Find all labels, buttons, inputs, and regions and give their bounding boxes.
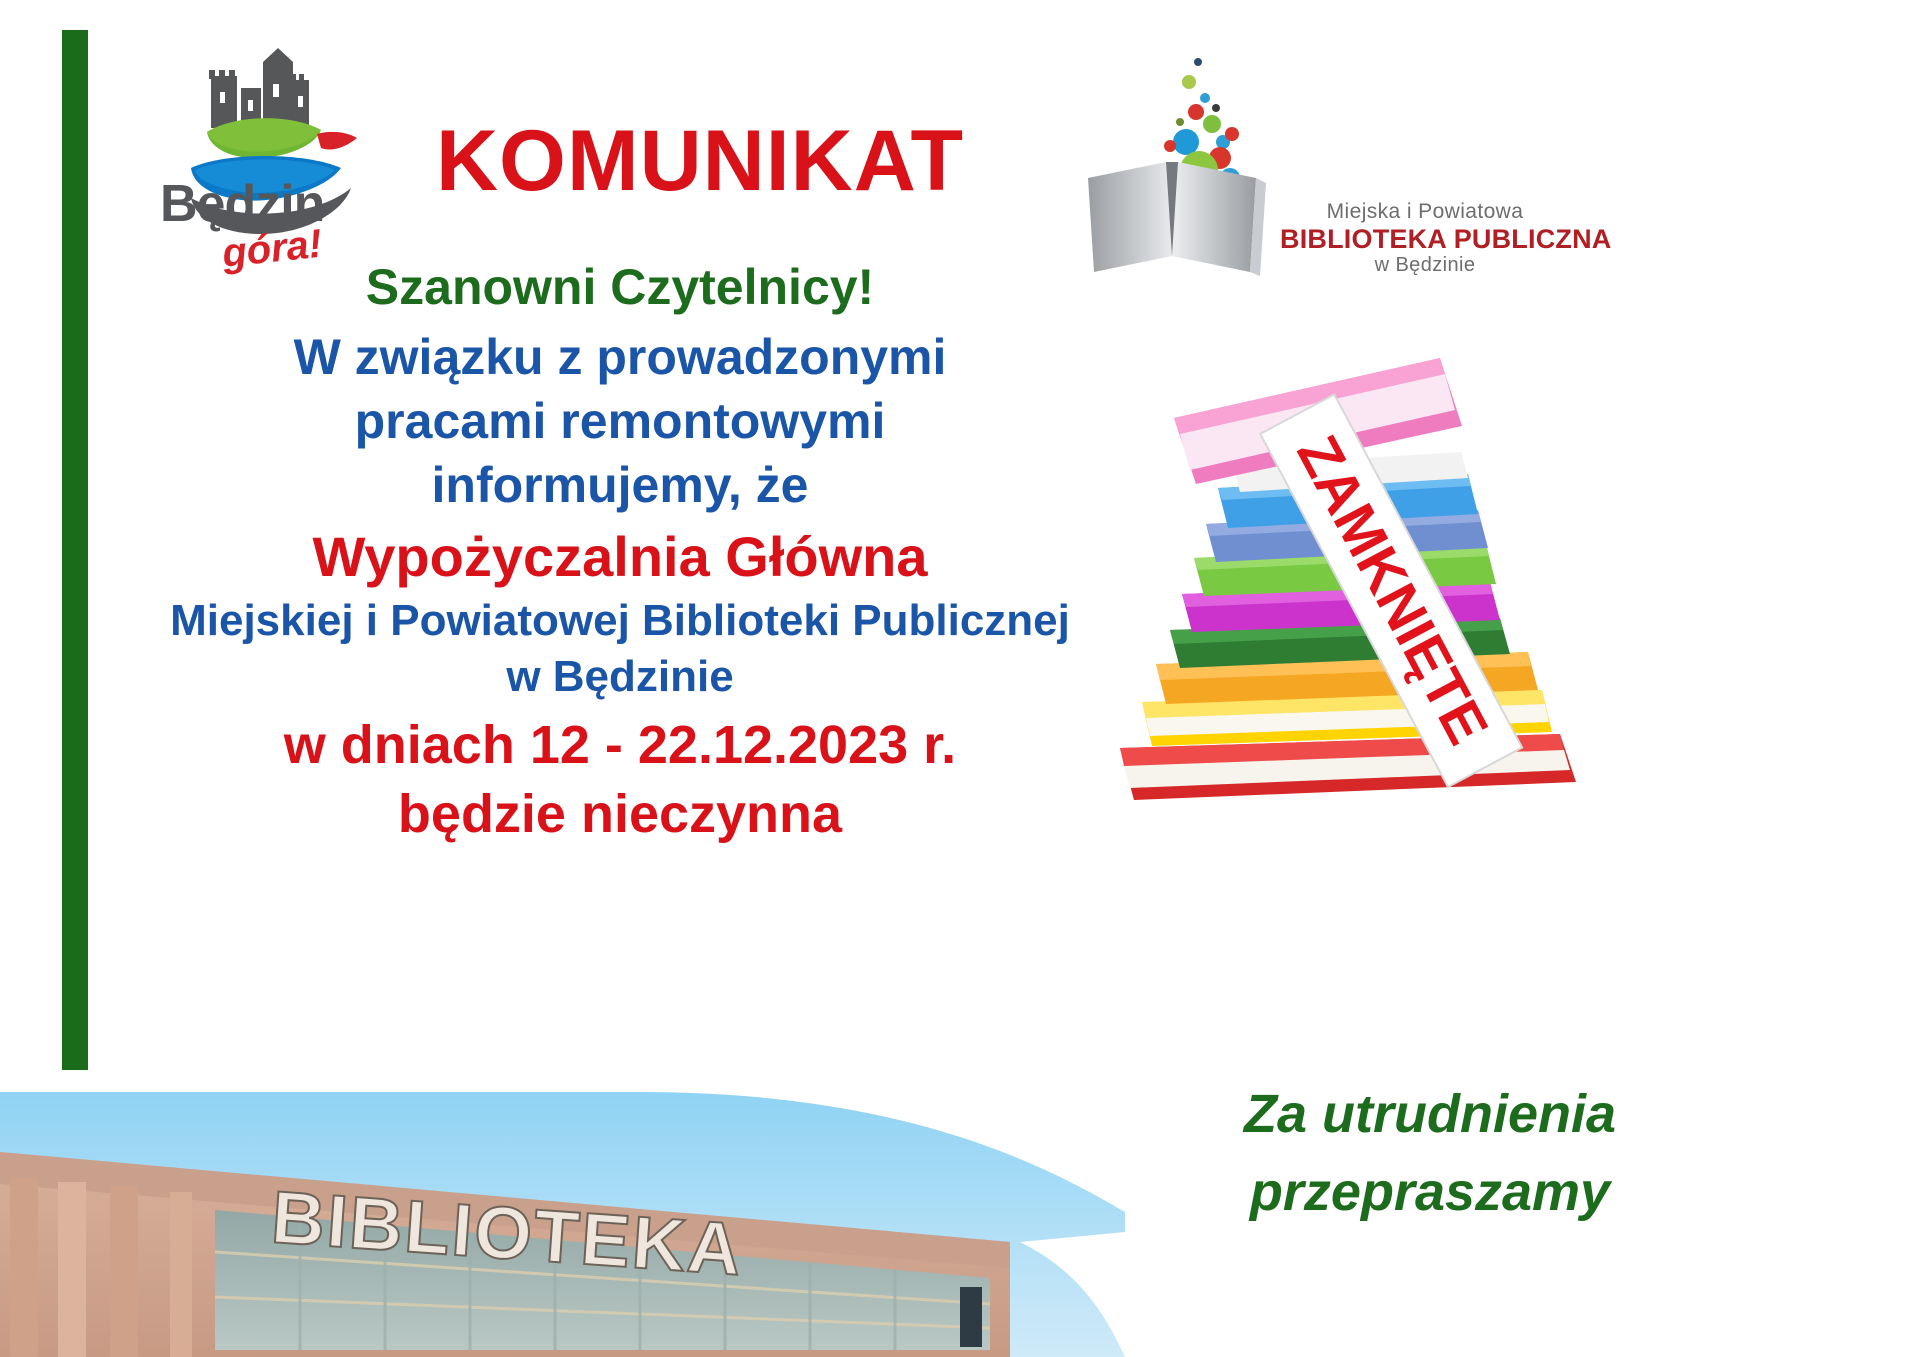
institution-line: Miejskiej i Powiatowej Biblioteki Public… (120, 593, 1120, 649)
library-logo-line1: Miejska i Powiatowa (1280, 200, 1570, 224)
announcement-body: Szanowni Czytelnicy! W związku z prowadz… (120, 255, 1120, 850)
page-title: KOMUNIKAT (330, 112, 1070, 211)
library-logo-line3: w Będzinie (1280, 254, 1570, 276)
city-line: w Będzinie (120, 649, 1120, 705)
left-green-bar (62, 30, 88, 1070)
greeting-line: Szanowni Czytelnicy! (120, 255, 1120, 319)
department-line: Wypożyczalnia Główna (120, 521, 1120, 593)
apology-text: Za utrudnienia przepraszamy (1110, 1075, 1750, 1232)
open-book-with-bubbles-icon (1080, 50, 1275, 280)
reason-line-1: W związku z prowadzonymi (120, 325, 1120, 389)
library-logo-line2: BIBLIOTEKA PUBLICZNA (1280, 224, 1570, 254)
library-building-photo: BIBLIOTEKA (0, 1092, 1125, 1357)
closure-dates: w dniach 12 - 22.12.2023 r. (120, 711, 1120, 780)
poster-canvas: Będzin góra! KOMUNIKAT (0, 0, 1920, 1357)
reason-line-2: pracami remontowymi (120, 389, 1120, 453)
closed-books-illustration: ZAMKNIĘTE (1090, 330, 1610, 830)
library-logo-text: Miejska i Powiatowa BIBLIOTEKA PUBLICZNA… (1280, 200, 1570, 276)
apology-line-2: przepraszamy (1110, 1153, 1750, 1231)
reason-line-3: informujemy, że (120, 453, 1120, 517)
closure-status: będzie nieczynna (120, 780, 1120, 849)
library-logo: Miejska i Powiatowa BIBLIOTEKA PUBLICZNA… (1080, 50, 1560, 280)
apology-line-1: Za utrudnienia (1110, 1075, 1750, 1153)
